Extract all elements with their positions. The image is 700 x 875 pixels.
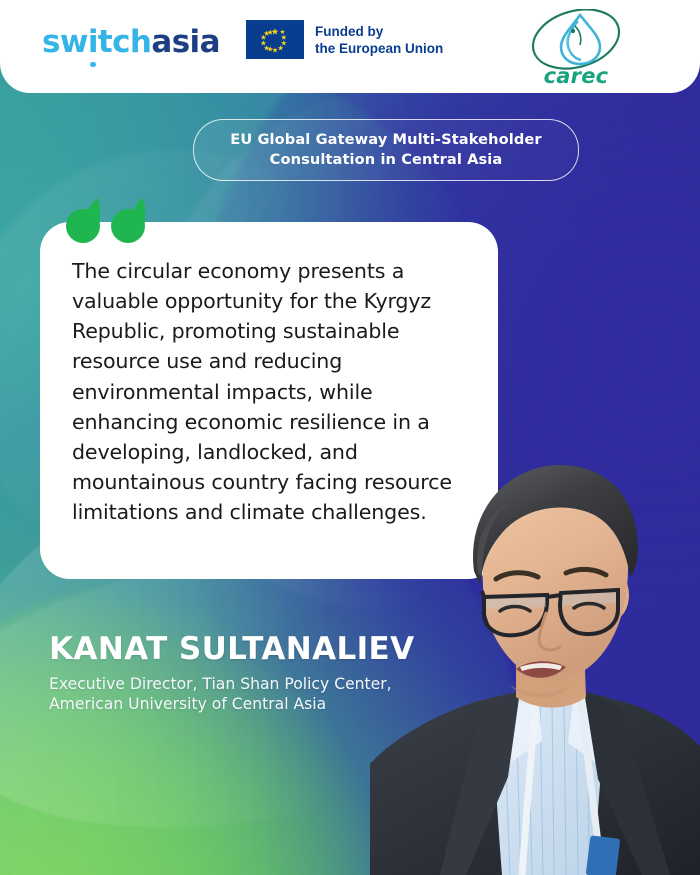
switchasia-logo-sw: sw bbox=[42, 24, 88, 60]
european-union-flag-icon bbox=[246, 20, 304, 59]
speaker-role: Executive Director, Tian Shan Policy Cen… bbox=[49, 674, 415, 715]
speaker-role-line1: Executive Director, Tian Shan Policy Cen… bbox=[49, 674, 415, 694]
switchasia-logo-tch: tch bbox=[98, 24, 151, 60]
speaker-role-line2: American University of Central Asia bbox=[49, 694, 415, 714]
speaker-name: KANAT SULTANALIEV bbox=[49, 633, 415, 666]
carec-wordmark: carec bbox=[528, 64, 624, 88]
carec-logo[interactable]: carec bbox=[528, 9, 624, 87]
eu-funding-block: Funded by the European Union bbox=[246, 20, 443, 59]
poster-canvas: switchasia bbox=[0, 0, 700, 875]
event-title-line2: Consultation in Central Asia bbox=[206, 150, 566, 170]
switchasia-logo-asia: asia bbox=[151, 24, 220, 60]
speaker-block: KANAT SULTANALIEV Executive Director, Ti… bbox=[49, 633, 415, 714]
event-title-line1: EU Global Gateway Multi-Stakeholder bbox=[206, 130, 566, 150]
switchasia-logo[interactable]: switchasia bbox=[42, 27, 220, 58]
eu-funding-text: Funded by the European Union bbox=[315, 23, 443, 57]
speaker-portrait bbox=[370, 445, 700, 875]
quote-mark-icon bbox=[66, 193, 147, 243]
header-bar: switchasia bbox=[0, 0, 700, 93]
eu-funding-line2: the European Union bbox=[315, 40, 443, 57]
event-title-pill: EU Global Gateway Multi-Stakeholder Cons… bbox=[193, 119, 579, 181]
quote-mark-right-icon bbox=[111, 193, 147, 243]
switchasia-logo-i: i bbox=[88, 27, 98, 58]
eu-funding-line1: Funded by bbox=[315, 23, 443, 40]
quote-mark-left-icon bbox=[66, 193, 102, 243]
